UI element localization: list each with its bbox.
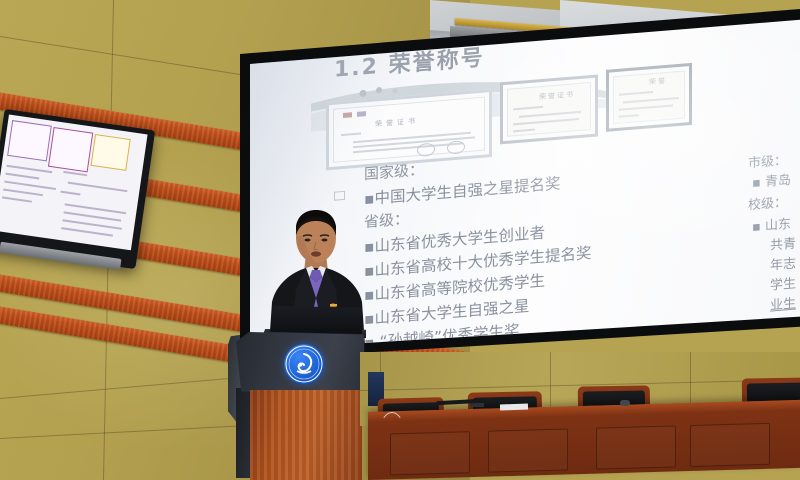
photo-scene: 1.2 荣誉称号 荣誉证书 [0,0,800,480]
tv-certificate [91,134,131,171]
desk-panel [488,428,568,472]
power-cable [378,412,406,464]
desk-item [620,400,630,406]
laptop [270,306,362,334]
tv-text-line [3,188,43,196]
tv-certificate [48,127,93,172]
tv-text-line [2,196,32,202]
desk-panel [690,423,770,467]
tv-screen [0,115,148,251]
tv-text-line [68,182,128,193]
podium [236,332,364,480]
desk-panel [596,425,676,469]
desk-device [500,404,528,411]
conference-desk [368,400,800,480]
tv-text-line [60,191,80,196]
tv-text-line [4,181,56,190]
desk-item [470,403,484,407]
wall-mounted-tv [0,109,155,269]
podium-top [236,332,364,394]
podium-body [250,390,362,480]
tv-certificate [7,120,52,161]
university-emblem-icon [284,344,324,384]
tv-text-line [7,165,53,174]
tv-text-line [5,173,39,180]
tv-text-line [61,227,113,236]
